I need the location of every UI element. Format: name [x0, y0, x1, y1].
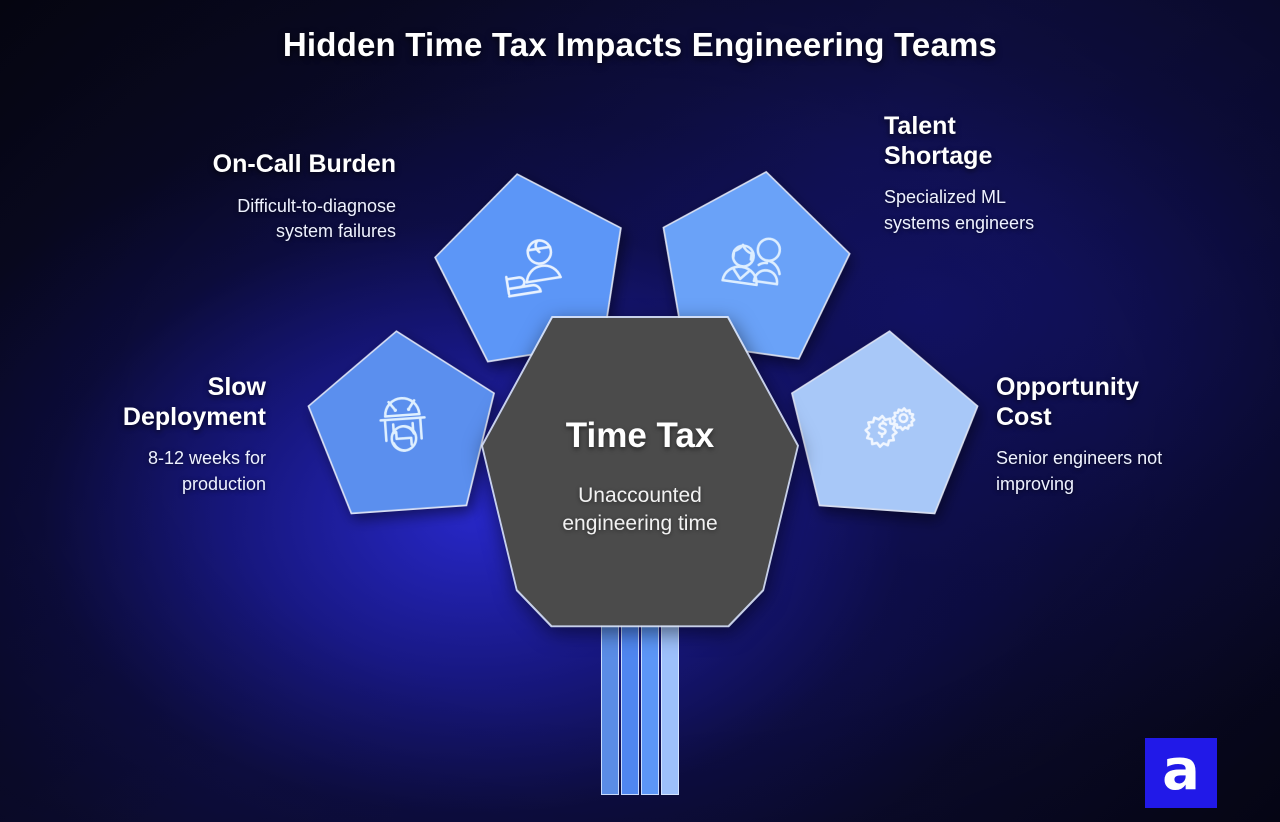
label-title-talent-shortage: Talent Shortage [884, 112, 1184, 171]
gears-dollar-icon [783, 324, 984, 527]
hub-title: Time Tax [566, 416, 715, 456]
page-title: Hidden Time Tax Impacts Engineering Team… [0, 26, 1280, 64]
title-line-1: Opportunity [996, 373, 1252, 403]
title-line-2: Shortage [884, 142, 1184, 172]
label-title-opportunity-cost: Opportunity Cost [996, 373, 1252, 432]
central-hub-time-tax[interactable]: Time Tax Unaccounted engineering time [481, 316, 799, 632]
stem-bar-4 [661, 618, 679, 795]
brand-logo-glyph: a [1162, 743, 1200, 799]
hub-subtitle-line-1: Unaccounted [562, 482, 717, 510]
node-shape-slow-deployment[interactable] [303, 324, 504, 527]
android-sync-icon [303, 324, 504, 527]
desc-line-2: improving [996, 472, 1252, 498]
label-talent-shortage: Talent Shortage Specialized ML systems e… [884, 112, 1184, 236]
label-desc-opportunity-cost: Senior engineers not improving [996, 446, 1252, 497]
desc-line-1: 8-12 weeks for [60, 446, 266, 472]
label-slow-deployment: Slow Deployment 8-12 weeks for productio… [60, 373, 266, 497]
hub-subtitle: Unaccounted engineering time [562, 482, 717, 537]
hub-text-block: Time Tax Unaccounted engineering time [481, 316, 799, 632]
stem-bar-1 [601, 618, 619, 795]
label-desc-on-call-burden: Difficult-to-diagnose system failures [96, 194, 396, 245]
node-shape-opportunity-cost[interactable] [783, 324, 984, 527]
stem-bars [601, 618, 679, 795]
desc-line-1: Difficult-to-diagnose [96, 194, 396, 220]
title-line-1: Talent [884, 112, 1184, 142]
label-title-slow-deployment: Slow Deployment [60, 373, 266, 432]
label-on-call-burden: On-Call Burden Difficult-to-diagnose sys… [96, 150, 396, 245]
label-title-on-call-burden: On-Call Burden [96, 150, 396, 180]
desc-line-2: systems engineers [884, 211, 1184, 237]
label-desc-slow-deployment: 8-12 weeks for production [60, 446, 266, 497]
brand-logo: a [1145, 738, 1217, 808]
title-line-2: Cost [996, 403, 1252, 433]
slide-canvas: Hidden Time Tax Impacts Engineering Team… [0, 0, 1280, 822]
title-line-2: Deployment [60, 403, 266, 433]
title-line-1: Slow [60, 373, 266, 403]
stem-bar-2 [621, 618, 639, 795]
hub-subtitle-line-2: engineering time [562, 510, 717, 538]
label-opportunity-cost: Opportunity Cost Senior engineers not im… [996, 373, 1252, 497]
label-desc-talent-shortage: Specialized ML systems engineers [884, 185, 1184, 236]
desc-line-2: production [60, 472, 266, 498]
desc-line-1: Senior engineers not [996, 446, 1252, 472]
desc-line-2: system failures [96, 219, 396, 245]
stem-bar-3 [641, 618, 659, 795]
desc-line-1: Specialized ML [884, 185, 1184, 211]
